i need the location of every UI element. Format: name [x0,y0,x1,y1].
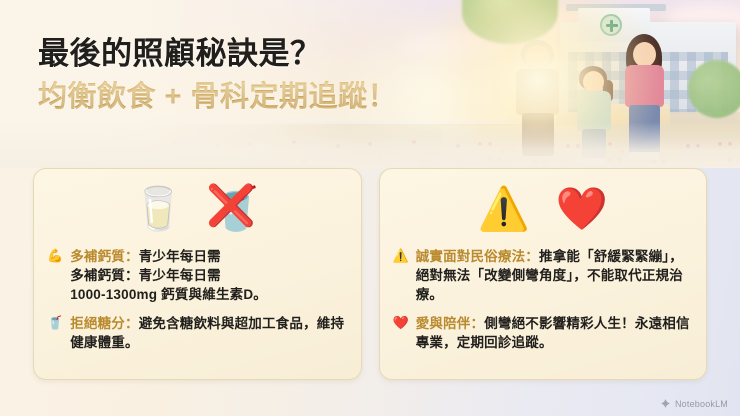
notebooklm-watermark: NotebookLM [660,398,728,409]
warning-triangle-icon: ⚠️ [477,188,529,230]
card-icon-row: ⚠️ ❤️ [380,169,707,241]
mindset-card: ⚠️ ❤️ ⚠️ 誠實面對民俗療法：推拿能「舒緩緊緊繃」，絕對無法「改變側彎角度… [379,168,708,380]
bullet-text: 拒絕糖分：避免含糖飲料與超加工食品，維持健康體重。 [70,314,344,352]
bullet-lead: 誠實面對民俗療法： [416,249,539,264]
slide-root: 最後的照顧秘訣是？ 均衡飲食 + 骨科定期追蹤！ 🥛 🥤 ❌ 💪 多補鈣質：青少… [0,0,740,416]
tree-shape [688,60,740,118]
bullet-text: 愛與陪伴：側彎絕不影響精彩人生！永遠相信專業，定期回診追蹤。 [416,314,690,352]
no-soda-icon: 🥤 ❌ [210,188,262,230]
mindset-bullet-list: ⚠️ 誠實面對民俗療法：推拿能「舒緩緊緊繃」，絕對無法「改變側彎角度」，不能取代… [380,241,707,352]
bullet-lead: 愛與陪伴： [416,316,485,331]
milk-glass-icon: 🥛 [132,188,184,230]
cross-mark-icon: ❌ [206,186,256,226]
page-title: 最後的照顧秘訣是？ [38,36,508,73]
bullet-lead: 拒絕糖分： [70,316,139,331]
cup-with-straw-icon: 🥤 [47,314,63,333]
nutrition-bullet-list: 💪 多補鈣質：青少年每日需 多補鈣質：青少年每日需 1000-1300mg 鈣質… [34,241,361,352]
bullet-text: 誠實面對民俗療法：推拿能「舒緩緊緊繃」，絕對無法「改變側彎角度」，不能取代正規治… [416,247,690,304]
bullet-lead: 多補鈣質： [70,249,139,264]
bullet-extra-line-2: 1000-1300mg 鈣質與維生素D。 [70,287,267,302]
red-heart-small-icon: ❤️ [393,314,409,333]
card-icon-row: 🥛 🥤 ❌ [34,169,361,241]
cards-row: 🥛 🥤 ❌ 💪 多補鈣質：青少年每日需 多補鈣質：青少年每日需 1000-130… [33,168,707,380]
bullet-item: ⚠️ 誠實面對民俗療法：推拿能「舒緩緊緊繃」，絕對無法「改變側彎角度」，不能取代… [393,247,691,304]
red-heart-icon: ❤️ [556,188,608,230]
hero-bottom-fade [0,122,740,168]
nutrition-card: 🥛 🥤 ❌ 💪 多補鈣質：青少年每日需 多補鈣質：青少年每日需 1000-130… [33,168,362,380]
bullet-extra-line-1: 多補鈣質：青少年每日需 [70,268,221,283]
heading-block: 最後的照顧秘訣是？ 均衡飲食 + 骨科定期追蹤！ [38,36,508,114]
page-subtitle: 均衡飲食 + 骨科定期追蹤！ [38,80,508,115]
watermark-label: NotebookLM [675,399,728,409]
bullet-body: 青少年每日需 [139,249,221,264]
warning-small-icon: ⚠️ [393,247,409,266]
bullet-item: 🥤 拒絕糖分：避免含糖飲料與超加工食品，維持健康體重。 [47,314,345,352]
flexed-biceps-icon: 💪 [47,247,63,266]
bullet-text: 多補鈣質：青少年每日需 多補鈣質：青少年每日需 1000-1300mg 鈣質與維… [70,247,267,304]
bullet-item: ❤️ 愛與陪伴：側彎絕不影響精彩人生！永遠相信專業，定期回診追蹤。 [393,314,691,352]
bullet-item: 💪 多補鈣質：青少年每日需 多補鈣質：青少年每日需 1000-1300mg 鈣質… [47,247,345,304]
notebooklm-logo [660,398,671,409]
